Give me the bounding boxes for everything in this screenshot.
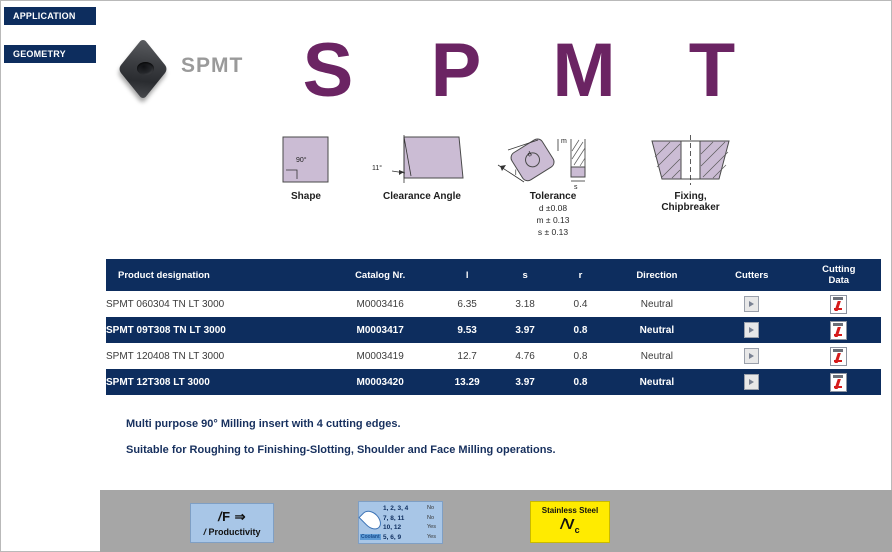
cell-l: 12.7 <box>438 343 496 369</box>
pictogram-fixing-chipbreaker: Fixing, Chipbreaker <box>618 129 763 213</box>
letter-p: P <box>392 21 520 121</box>
cell-product-designation: SPMT 120408 TN LT 3000 <box>106 343 322 369</box>
cell-s: 4.76 <box>496 343 554 369</box>
tolerance-drawing: l d s m <box>488 129 618 191</box>
coolant-answer: Yes <box>427 523 441 533</box>
table-row[interactable]: SPMT 120408 TN LT 3000 M0003419 12.7 4.7… <box>106 343 881 369</box>
pictogram-row: 90° Shape 11° Clearance Angle <box>266 129 766 254</box>
col-cutting-data-line2: Data <box>797 275 881 286</box>
col-cutting-data-line1: Cutting <box>797 264 881 275</box>
cell-product-designation: SPMT 060304 TN LT 3000 <box>106 291 322 317</box>
productivity-symbol-row: /F ⇒ <box>191 509 273 525</box>
cell-s: 3.97 <box>496 369 554 395</box>
coolant-badge: Coolant 1, 2, 3, 4 No 7, 8, 11 No 10, 12… <box>358 501 443 544</box>
productivity-label: Productivity <box>209 527 261 537</box>
coolant-row: 7, 8, 11 No <box>383 514 441 524</box>
coolant-codes: 7, 8, 11 <box>383 514 404 524</box>
cutting-data-chart-icon[interactable] <box>830 347 847 366</box>
tab-application-label: APPLICATION <box>13 11 76 21</box>
cell-l: 6.35 <box>438 291 496 317</box>
designation-letters: S P M T <box>264 21 884 121</box>
water-drop-icon <box>358 507 384 533</box>
col-l: l <box>438 259 496 291</box>
fixing-drawing <box>618 129 763 191</box>
stainless-steel-label: Stainless Steel <box>531 506 609 515</box>
coolant-row: 10, 12 Yes <box>383 523 441 533</box>
productivity-arrow-icon: ⇒ <box>235 509 246 524</box>
insert-code-label: SPMT <box>181 54 243 78</box>
coolant-codes: 1, 2, 3, 4 <box>383 504 408 514</box>
cell-cutters[interactable] <box>707 291 797 317</box>
description-line-1: Multi purpose 90° Milling insert with 4 … <box>126 418 401 430</box>
shape-caption: Shape <box>266 191 346 202</box>
tab-application[interactable]: APPLICATION <box>4 7 96 25</box>
table-row[interactable]: SPMT 060304 TN LT 3000 M0003416 6.35 3.1… <box>106 291 881 317</box>
cell-direction: Neutral <box>607 343 707 369</box>
cutting-speed-symbol: V <box>565 516 575 533</box>
letter-m: M <box>520 21 648 121</box>
coolant-table: 1, 2, 3, 4 No 7, 8, 11 No 10, 12 Yes 5, … <box>383 504 441 542</box>
footer-strip: /F ⇒ / Productivity Coolant 1, 2, 3, 4 N… <box>100 490 892 552</box>
cell-cutters[interactable] <box>707 317 797 343</box>
cell-cutting-data[interactable] <box>797 343 881 369</box>
tab-geometry[interactable]: GEOMETRY <box>4 45 96 63</box>
coolant-codes: 10, 12 <box>383 523 401 533</box>
cutting-data-chart-icon[interactable] <box>830 373 847 392</box>
col-s: s <box>496 259 554 291</box>
letter-s: S <box>264 21 392 121</box>
specification-table: Product designation Catalog Nr. l s r Di… <box>106 259 881 395</box>
col-product-designation: Product designation <box>106 259 322 291</box>
tolerance-m: m ± 0.13 <box>488 214 618 226</box>
cell-direction: Neutral <box>607 317 707 343</box>
col-catalog-nr: Catalog Nr. <box>322 259 438 291</box>
cell-cutting-data[interactable] <box>797 291 881 317</box>
shape-drawing: 90° <box>266 129 346 191</box>
coolant-row: 5, 6, 9 Yes <box>383 533 441 543</box>
coolant-answer: Yes <box>427 533 441 543</box>
table-row[interactable]: SPMT 09T308 TN LT 3000 M0003417 9.53 3.9… <box>106 317 881 343</box>
description-line-2: Suitable for Roughing to Finishing-Slott… <box>126 444 556 456</box>
fixing-caption-line2: Chipbreaker <box>618 202 763 213</box>
coolant-answer: No <box>427 514 441 524</box>
cutters-play-icon[interactable] <box>744 374 759 390</box>
cell-s: 3.97 <box>496 317 554 343</box>
cell-catalog-nr: M0003416 <box>322 291 438 317</box>
pictogram-shape: 90° Shape <box>266 129 346 202</box>
cutters-play-icon[interactable] <box>744 348 759 364</box>
stainless-steel-badge: Stainless Steel /Vc <box>530 501 610 543</box>
coolant-label: Coolant <box>360 534 381 540</box>
col-cutters: Cutters <box>707 259 797 291</box>
productivity-badge: /F ⇒ / Productivity <box>190 503 274 543</box>
svg-text:l: l <box>515 170 517 177</box>
cell-s: 3.18 <box>496 291 554 317</box>
cutting-speed-subscript: c <box>575 525 580 535</box>
col-direction: Direction <box>607 259 707 291</box>
pictogram-tolerance: l d s m <box>488 129 618 238</box>
coolant-answer: No <box>427 504 441 514</box>
cell-l: 13.29 <box>438 369 496 395</box>
svg-text:s: s <box>574 184 578 191</box>
cell-cutters[interactable] <box>707 343 797 369</box>
cell-catalog-nr: M0003417 <box>322 317 438 343</box>
product-page: APPLICATION GEOMETRY SPMT S P M T 90° <box>0 0 892 552</box>
col-cutting-data: Cutting Data <box>797 259 881 291</box>
table-row[interactable]: SPMT 12T308 LT 3000 M0003420 13.29 3.97 … <box>106 369 881 395</box>
clearance-caption: Clearance Angle <box>358 191 486 202</box>
fixing-caption-line1: Fixing, <box>618 191 763 202</box>
cell-r: 0.4 <box>554 291 607 317</box>
insert-hole-shape <box>137 62 154 75</box>
coolant-codes: 5, 6, 9 <box>383 533 401 543</box>
cell-direction: Neutral <box>607 369 707 395</box>
cell-cutting-data[interactable] <box>797 317 881 343</box>
cell-l: 9.53 <box>438 317 496 343</box>
cell-r: 0.8 <box>554 343 607 369</box>
cutters-play-icon[interactable] <box>744 322 759 338</box>
table-header-row: Product designation Catalog Nr. l s r Di… <box>106 259 881 291</box>
tolerance-d: d ±0.08 <box>488 202 618 214</box>
coolant-row: 1, 2, 3, 4 No <box>383 504 441 514</box>
cell-catalog-nr: M0003420 <box>322 369 438 395</box>
cell-catalog-nr: M0003419 <box>322 343 438 369</box>
productivity-symbol: F <box>222 509 230 524</box>
cell-cutters[interactable] <box>707 369 797 395</box>
cutting-speed-symbol-row: /Vc <box>531 516 609 535</box>
clearance-angle-label: 11° <box>372 164 382 172</box>
cutters-play-icon[interactable] <box>744 296 759 312</box>
cell-r: 0.8 <box>554 317 607 343</box>
pictogram-clearance-angle: 11° Clearance Angle <box>358 129 486 202</box>
tab-geometry-label: GEOMETRY <box>13 49 66 59</box>
cell-r: 0.8 <box>554 369 607 395</box>
insert-photo-icon <box>117 43 179 98</box>
header-zone: SPMT S P M T <box>109 21 889 126</box>
clearance-drawing: 11° <box>358 129 486 191</box>
tolerance-s: s ± 0.13 <box>488 226 618 238</box>
cell-product-designation: SPMT 12T308 LT 3000 <box>106 369 322 395</box>
col-r: r <box>554 259 607 291</box>
cutting-data-chart-icon[interactable] <box>830 295 847 314</box>
cell-cutting-data[interactable] <box>797 369 881 395</box>
svg-text:m: m <box>561 138 567 145</box>
letter-t: T <box>648 21 776 121</box>
cell-direction: Neutral <box>607 291 707 317</box>
productivity-label-row: / Productivity <box>191 527 273 537</box>
cutting-data-chart-icon[interactable] <box>830 321 847 340</box>
cell-product-designation: SPMT 09T308 TN LT 3000 <box>106 317 322 343</box>
shape-angle-label: 90° <box>296 156 307 164</box>
tolerance-caption: Tolerance <box>488 191 618 202</box>
